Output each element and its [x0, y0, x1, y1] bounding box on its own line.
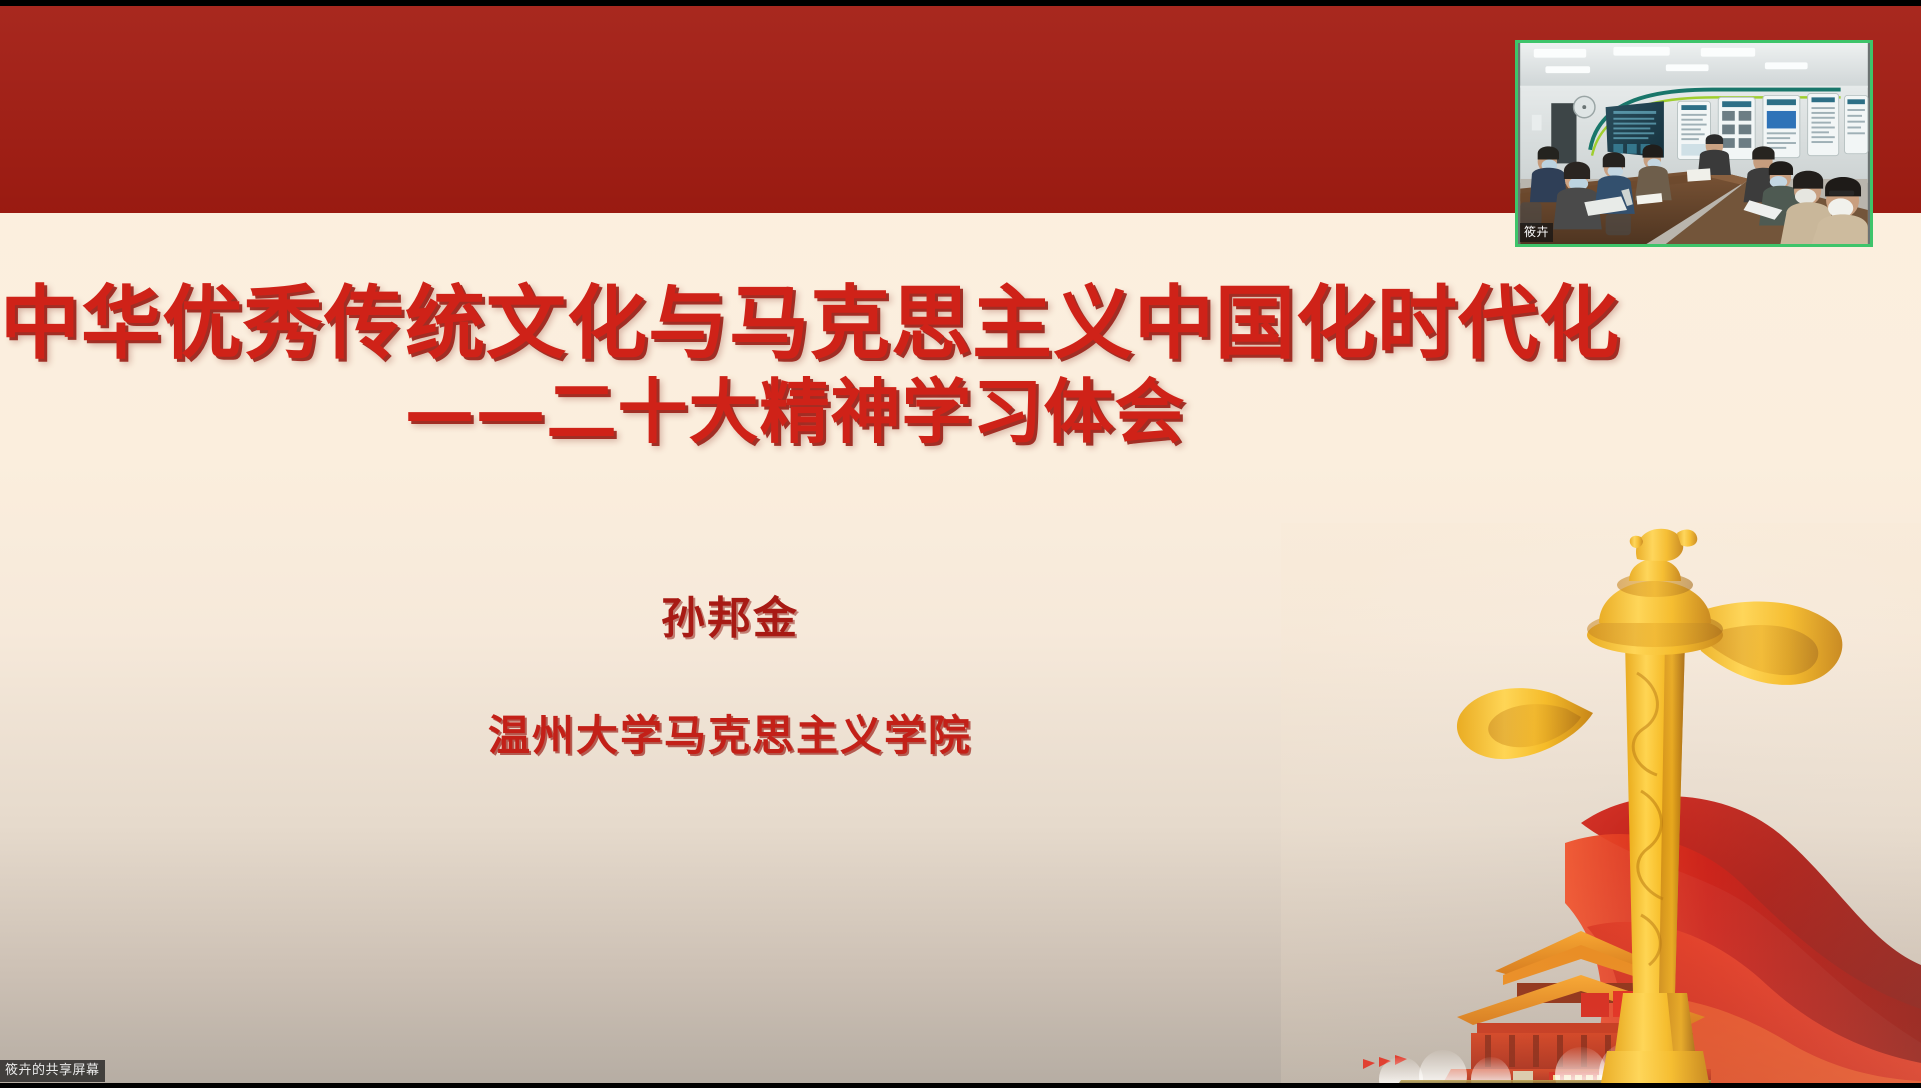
presenter-organization: 温州大学马克思主义学院 [0, 702, 1460, 763]
presenter-name: 孙邦金 [0, 582, 1460, 646]
slide-presenter-block: 孙邦金 温州大学马克思主义学院 [0, 582, 1460, 763]
letterbox-bottom [0, 1083, 1921, 1088]
tiananmen-gate [1363, 931, 1711, 1083]
screen-share-label: 筱卉的共享屏幕 [0, 1060, 105, 1082]
video-feed [1518, 43, 1870, 244]
slide-title-block: 中华优秀传统文化与马克思主义中国化时代化 ——二十大精神学习体会 [0, 282, 1590, 450]
slide-title-line1: 中华优秀传统文化与马克思主义中国化时代化 [0, 282, 1590, 367]
presentation-slide: 中华优秀传统文化与马克思主义中国化时代化 ——二十大精神学习体会 孙邦金 温州大… [0, 6, 1921, 1083]
slide-title-line2: ——二十大精神学习体会 [0, 375, 1590, 451]
participant-name-label: 筱卉 [1520, 223, 1553, 242]
fountains [1379, 1043, 1695, 1083]
huabiao-column [1457, 529, 1842, 1083]
screen-share-view: 中华优秀传统文化与马克思主义中国化时代化 ——二十大精神学习体会 孙邦金 温州大… [0, 0, 1921, 1088]
red-ribbon [1565, 796, 1921, 1083]
video-thumbnail-tile[interactable]: 筱卉 [1515, 40, 1873, 247]
